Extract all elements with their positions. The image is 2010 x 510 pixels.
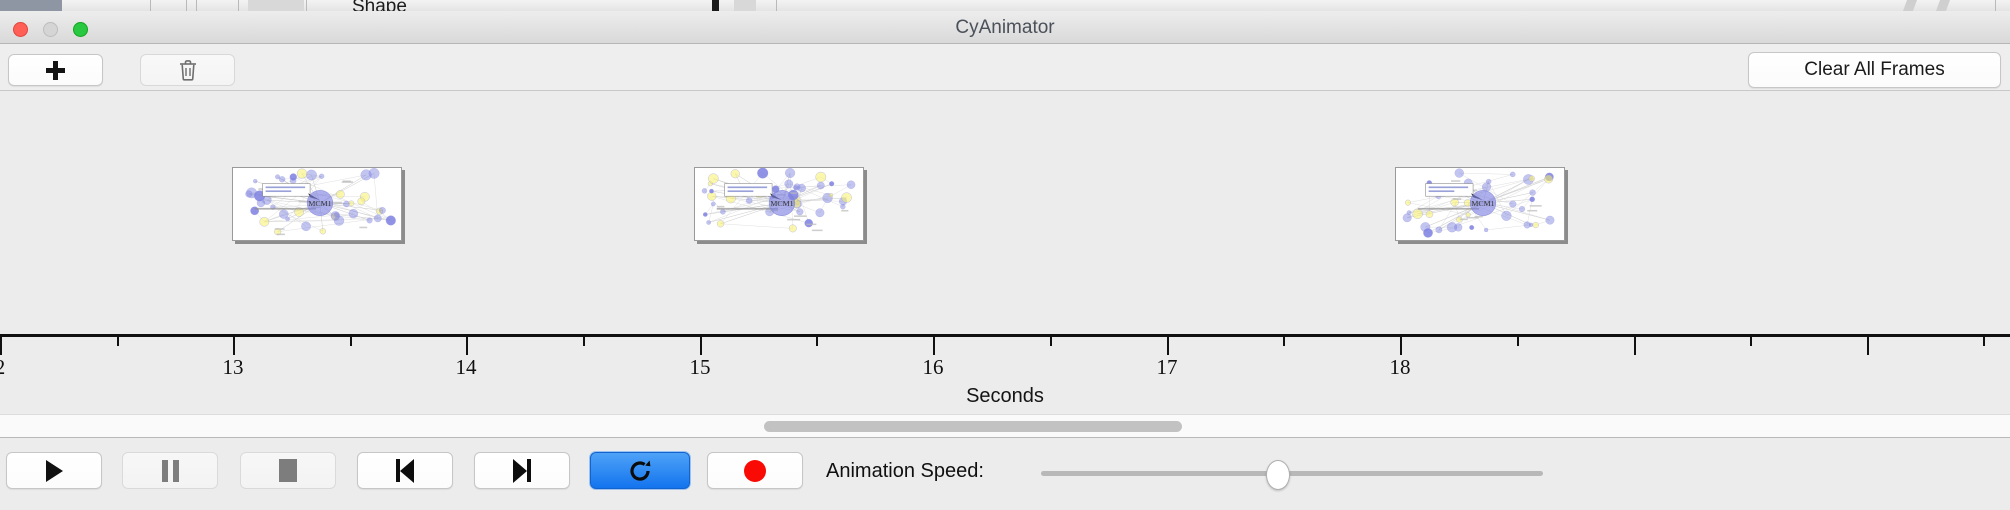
axis-tick	[1867, 337, 1869, 355]
axis-tick-label: 13	[223, 355, 244, 380]
background-window-separator	[238, 0, 239, 11]
background-window-slant	[1903, 0, 1917, 11]
axis-tick	[1400, 337, 1402, 355]
clear-all-frames-label: Clear All Frames	[1804, 59, 1944, 81]
timeline-scrollbar[interactable]	[0, 414, 2010, 437]
axis-tick	[466, 337, 468, 355]
axis-title: Seconds	[0, 385, 2010, 408]
slider-track	[1041, 471, 1543, 476]
background-window-separator	[1995, 0, 1996, 11]
axis-tick	[1517, 337, 1519, 346]
background-window-label: Shape	[352, 0, 407, 11]
axis-tick	[1167, 337, 1169, 355]
add-frame-button[interactable]	[8, 54, 103, 86]
svg-text:MCM1: MCM1	[308, 199, 331, 208]
svg-text:MCM1: MCM1	[770, 199, 793, 208]
playback-controls: Animation Speed:	[0, 437, 2010, 510]
axis-tick	[816, 337, 818, 346]
stop-button[interactable]	[240, 452, 336, 489]
timeline-frame-thumbnail[interactable]: MCM1	[1395, 167, 1565, 241]
slider-thumb[interactable]	[1266, 460, 1290, 490]
background-window-strip: Shape	[0, 0, 2010, 11]
axis-tick-label: 2	[0, 355, 5, 380]
title-bar: CyAnimator	[0, 11, 2010, 44]
axis-tick-label: 17	[1157, 355, 1178, 380]
axis-tick-label: 18	[1390, 355, 1411, 380]
record-icon	[744, 460, 766, 482]
plus-icon	[45, 60, 66, 81]
background-window-tab	[734, 0, 756, 11]
play-icon	[46, 460, 63, 482]
play-button[interactable]	[6, 452, 102, 489]
timeline-frame-thumbnail[interactable]: MCM1	[694, 167, 864, 241]
axis-tick	[1283, 337, 1285, 346]
timeline-panel[interactable]: MCM1 MCM1	[0, 91, 2010, 414]
background-window-separator	[186, 0, 187, 11]
axis-tick	[1983, 337, 1985, 346]
axis-tick-label: 16	[923, 355, 944, 380]
axis-tick	[117, 337, 119, 346]
window-title: CyAnimator	[0, 17, 2010, 39]
background-window-dark-block	[0, 0, 62, 11]
loop-button[interactable]	[590, 452, 690, 489]
clear-all-frames-button[interactable]: Clear All Frames	[1748, 52, 2001, 88]
axis-tick-label: 15	[690, 355, 711, 380]
pause-button[interactable]	[122, 452, 218, 489]
axis-tick	[1750, 337, 1752, 346]
background-window-slant	[1936, 0, 1950, 11]
background-window-tab	[248, 0, 304, 11]
axis-tick	[350, 337, 352, 346]
pause-icon	[162, 460, 179, 482]
record-button[interactable]	[707, 452, 803, 489]
axis-tick	[0, 337, 2, 355]
skip-previous-icon	[396, 459, 414, 483]
axis-tick	[233, 337, 235, 355]
axis-tick	[933, 337, 935, 355]
skip-next-icon	[513, 459, 531, 483]
loop-icon	[627, 458, 653, 484]
stop-icon	[279, 459, 297, 482]
animation-speed-label: Animation Speed:	[826, 460, 984, 483]
svg-text:MCM1: MCM1	[1471, 199, 1494, 208]
cyanimator-window: Shape CyAnimator Clear All Frames	[0, 0, 2010, 510]
axis-tick	[700, 337, 702, 355]
background-window-mark	[712, 0, 719, 11]
delete-frame-button[interactable]	[140, 54, 235, 86]
background-window-separator	[196, 0, 197, 11]
skip-previous-button[interactable]	[357, 452, 453, 489]
skip-next-button[interactable]	[474, 452, 570, 489]
axis-tick	[1050, 337, 1052, 346]
timeline-scrollbar-thumb[interactable]	[764, 421, 1182, 432]
axis-tick	[583, 337, 585, 346]
toolbar: Clear All Frames	[0, 44, 2010, 91]
timeline-frame-thumbnail[interactable]: MCM1	[232, 167, 402, 241]
animation-speed-slider[interactable]	[1041, 461, 1543, 489]
axis-tick-label: 14	[456, 355, 477, 380]
background-window-separator	[776, 0, 777, 11]
background-window-separator	[150, 0, 151, 11]
trash-icon	[178, 59, 198, 81]
timeline-axis-line	[0, 334, 2010, 337]
axis-tick	[1634, 337, 1636, 355]
background-window-separator	[306, 0, 307, 11]
